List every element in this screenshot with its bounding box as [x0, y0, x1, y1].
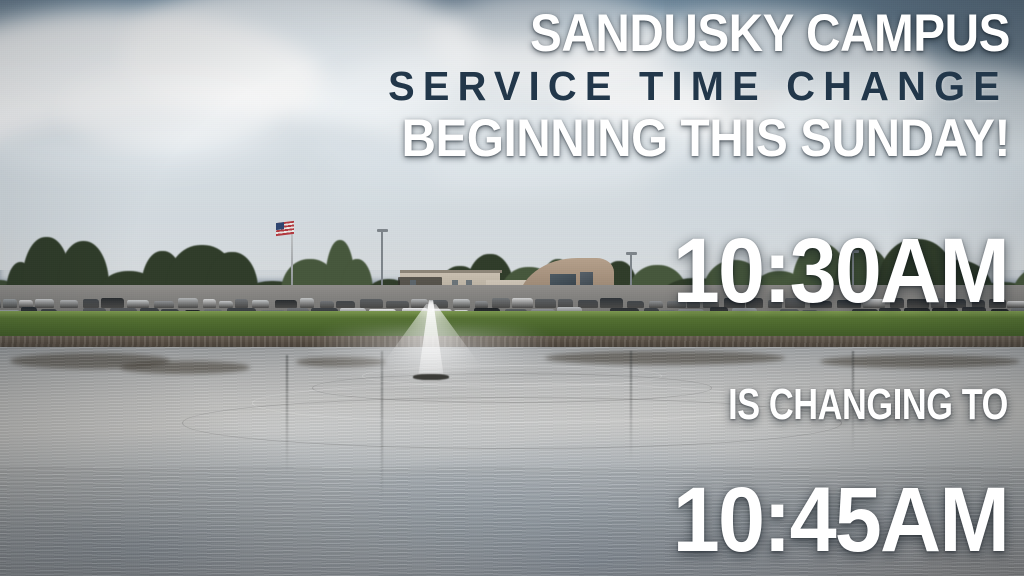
headline-line-1: SANDUSKY CAMPUS	[110, 6, 1010, 62]
headline-block: SANDUSKY CAMPUS SERVICE TIME CHANGE BEGI…	[10, 6, 1010, 167]
old-service-time: 10:30AM	[493, 225, 1008, 317]
times-block: 10:30AM IS CHANGING TO 10:45AM	[448, 225, 1008, 566]
spacer	[448, 317, 1008, 383]
changing-to-label: IS CHANGING TO	[571, 383, 1008, 427]
text-overlay: SANDUSKY CAMPUS SERVICE TIME CHANGE BEGI…	[0, 0, 1024, 576]
spacer	[448, 427, 1008, 474]
announcement-slide: SANDUSKY CAMPUS SERVICE TIME CHANGE BEGI…	[0, 0, 1024, 576]
new-service-time: 10:45AM	[493, 474, 1008, 566]
headline-line-2: SERVICE TIME CHANGE	[40, 62, 1010, 110]
headline-line-3: BEGINNING THIS SUNDAY!	[110, 110, 1010, 167]
